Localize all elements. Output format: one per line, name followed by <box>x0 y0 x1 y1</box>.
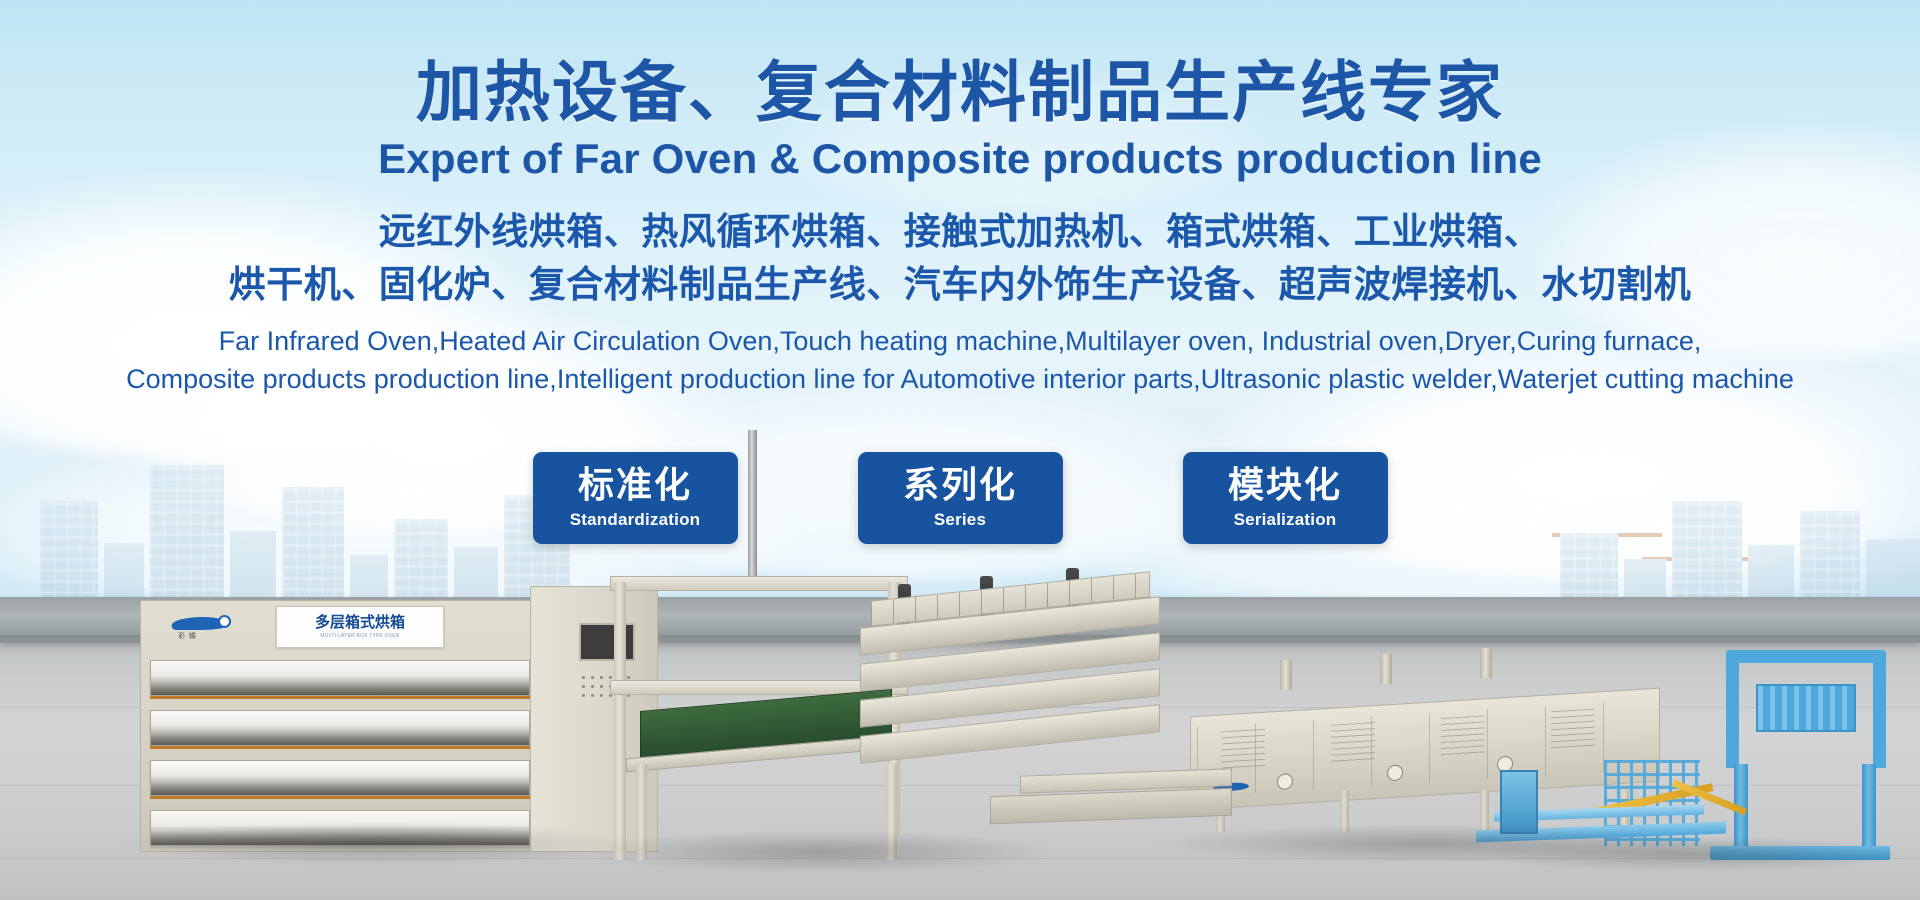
badge-label-en: Serialization <box>1234 510 1337 530</box>
badge-label-en: Series <box>934 510 986 530</box>
badge-label-cn: 标准化 <box>578 466 692 504</box>
badge-series[interactable]: 系列化 Series <box>858 452 1063 544</box>
product-line-en-2: Composite products production line,Intel… <box>0 361 1920 398</box>
ground-surface <box>0 639 1920 900</box>
feature-badges: 标准化 Standardization 系列化 Series 模块化 Seria… <box>0 452 1920 544</box>
badge-label-cn: 系列化 <box>903 466 1017 504</box>
product-list-cn: 远红外线烘箱、热风循环烘箱、接触式加热机、箱式烘箱、工业烘箱、 烘干机、固化炉、… <box>0 206 1920 311</box>
product-list-en: Far Infrared Oven,Heated Air Circulation… <box>0 323 1920 398</box>
badge-serialization[interactable]: 模块化 Serialization <box>1183 452 1388 544</box>
badge-label-en: Standardization <box>570 510 701 530</box>
product-line-cn-2: 烘干机、固化炉、复合材料制品生产线、汽车内外饰生产设备、超声波焊接机、水切割机 <box>0 259 1920 312</box>
page-subtitle: Expert of Far Oven & Composite products … <box>0 134 1920 184</box>
press-beam-top <box>610 576 908 591</box>
badge-label-cn: 模块化 <box>1228 466 1342 504</box>
product-line-en-1: Far Infrared Oven,Heated Air Circulation… <box>0 323 1920 360</box>
hero-banner: 加热设备、复合材料制品生产线专家 Expert of Far Oven & Co… <box>0 0 1920 900</box>
page-title: 加热设备、复合材料制品生产线专家 <box>0 56 1920 130</box>
product-line-cn-1: 远红外线烘箱、热风循环烘箱、接触式加热机、箱式烘箱、工业烘箱、 <box>0 206 1920 259</box>
roof-parapet <box>0 597 1920 643</box>
banner-text-block: 加热设备、复合材料制品生产线专家 Expert of Far Oven & Co… <box>0 56 1920 398</box>
badge-standardization[interactable]: 标准化 Standardization <box>533 452 738 544</box>
